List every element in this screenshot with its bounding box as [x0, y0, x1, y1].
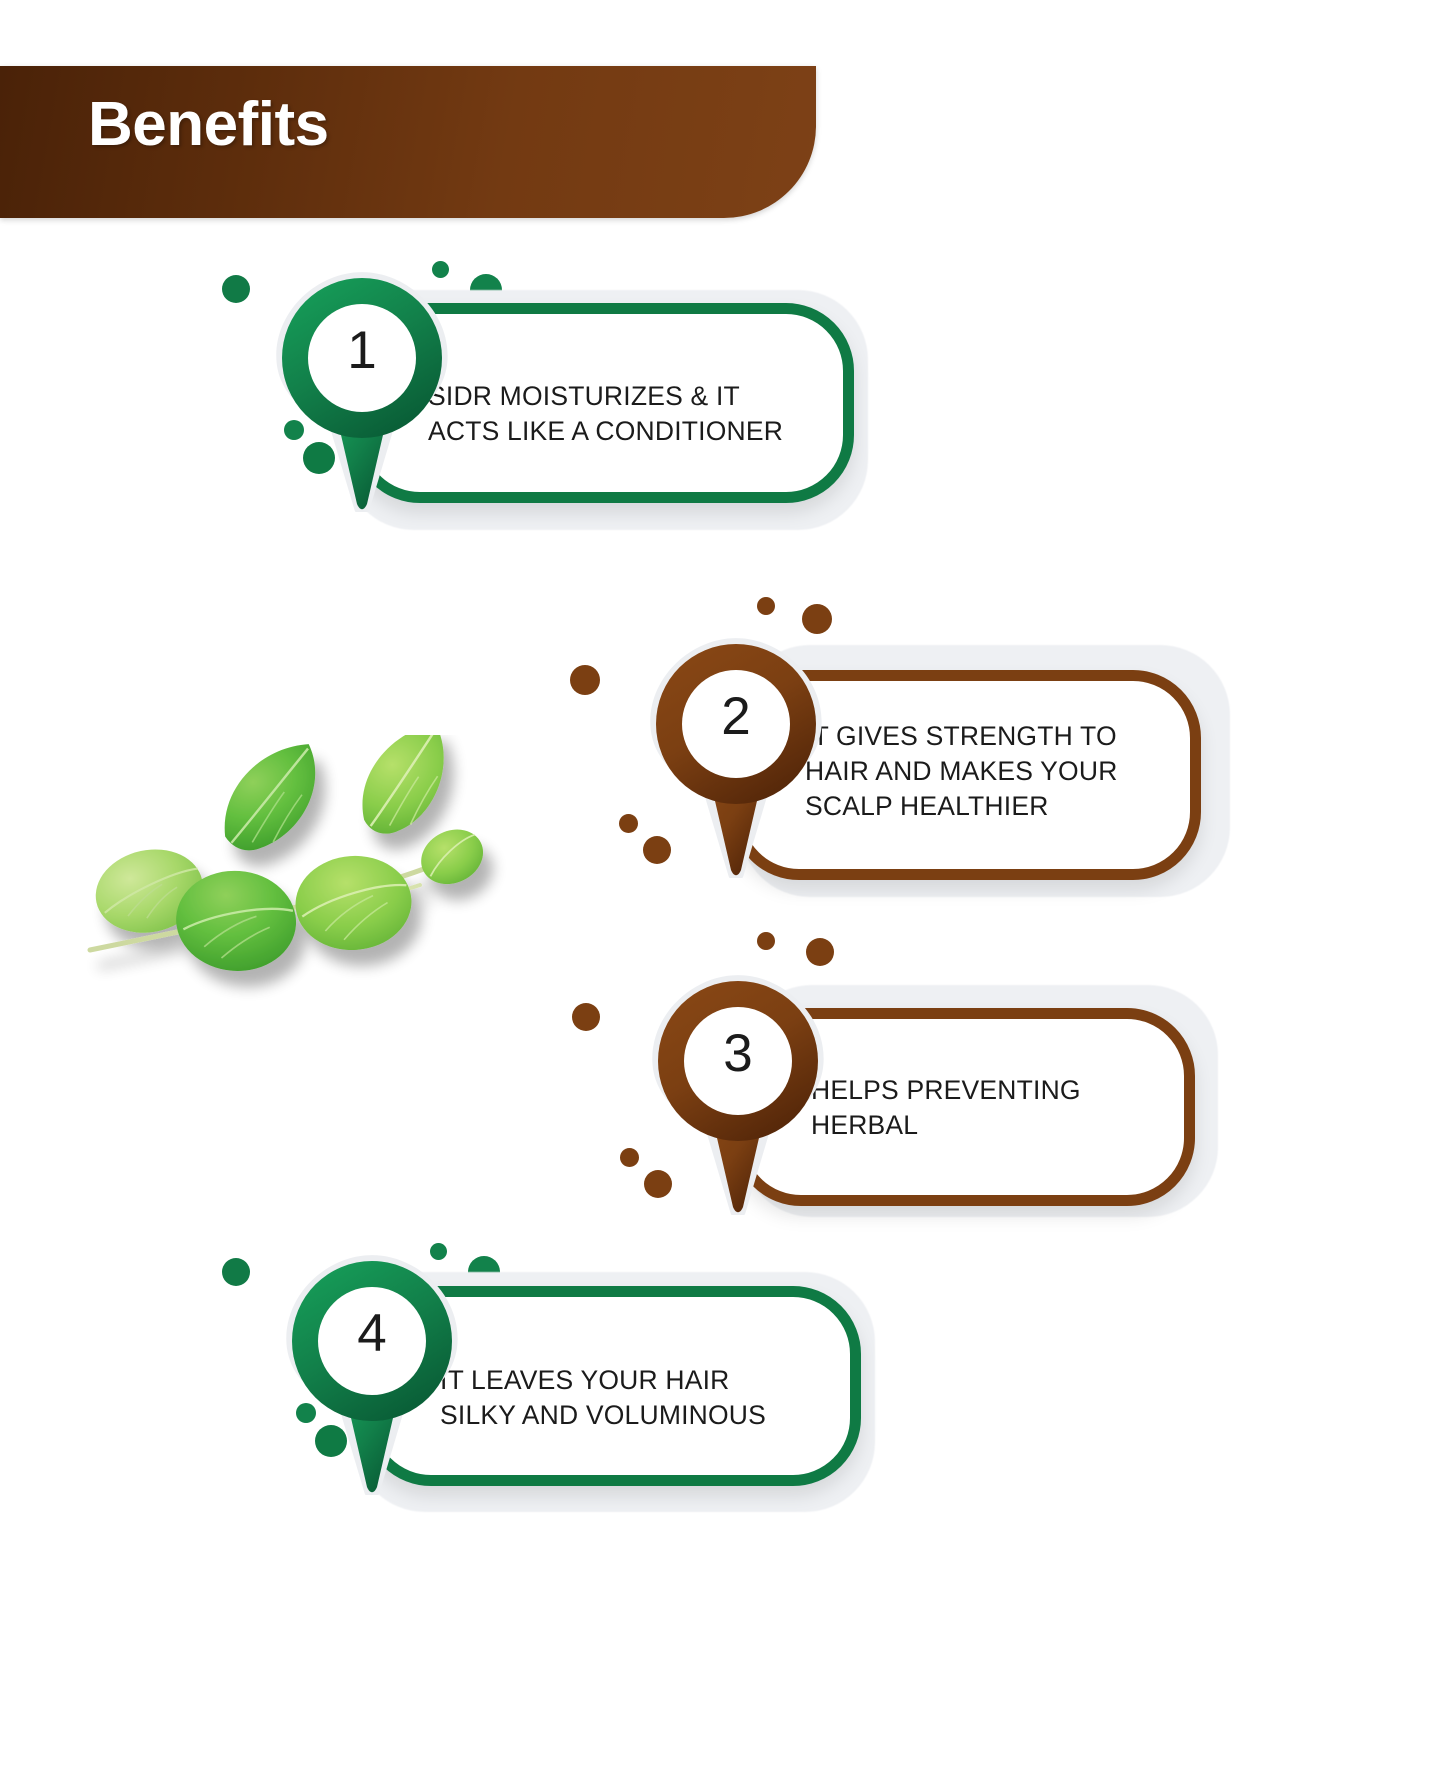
benefit-pin-1[interactable]: 1: [274, 272, 450, 512]
decor-dot: [468, 1256, 500, 1288]
decor-dot: [303, 442, 335, 474]
benefit-number-4: 4: [284, 1307, 460, 1360]
decor-dot: [470, 274, 502, 306]
benefit-text-3: HELPS PREVENTING HERBAL: [811, 1073, 1201, 1143]
sidr-leaves-icon: [70, 735, 520, 1035]
decor-dot: [315, 1425, 347, 1457]
page-title: Benefits: [88, 94, 329, 156]
benefit-number-1: 1: [274, 324, 450, 377]
decor-dot: [620, 1148, 639, 1167]
benefit-number-2: 2: [648, 690, 824, 743]
card-halo: [355, 1272, 875, 1512]
decor-dot: [430, 1243, 447, 1260]
decor-dot: [222, 1258, 250, 1286]
decor-dot: [296, 1403, 316, 1423]
benefit-text-1: SIDR MOISTURIZES & IT ACTS LIKE A CONDIT…: [428, 379, 848, 449]
benefit-card-3[interactable]: [733, 1008, 1195, 1206]
decor-dot: [757, 932, 775, 950]
decor-dot: [757, 597, 775, 615]
benefit-card-2[interactable]: [731, 670, 1201, 880]
decor-dot: [570, 665, 600, 695]
decor-dot: [643, 836, 671, 864]
decor-dot: [644, 1170, 672, 1198]
decor-dot: [432, 261, 449, 278]
benefit-pin-3[interactable]: 3: [650, 975, 826, 1215]
decor-dot: [802, 604, 832, 634]
decor-dot: [619, 814, 638, 833]
infographic-page: Benefits: [0, 0, 1445, 1765]
decor-dot: [284, 420, 304, 440]
benefit-text-2: IT GIVES STRENGTH TO HAIR AND MAKES YOUR…: [805, 719, 1205, 825]
decor-dot: [222, 275, 250, 303]
card-halo: [344, 290, 868, 530]
benefit-number-3: 3: [650, 1027, 826, 1080]
benefit-card-1[interactable]: [352, 303, 854, 503]
decor-dot: [806, 938, 834, 966]
benefit-pin-4[interactable]: 4: [284, 1255, 460, 1495]
benefit-pin-2[interactable]: 2: [648, 638, 824, 878]
card-halo: [740, 645, 1230, 897]
card-halo: [742, 985, 1218, 1217]
decor-dot: [572, 1003, 600, 1031]
benefit-card-4[interactable]: [363, 1286, 861, 1486]
benefit-text-4: IT LEAVES YOUR HAIR SILKY AND VOLUMINOUS: [440, 1363, 860, 1433]
